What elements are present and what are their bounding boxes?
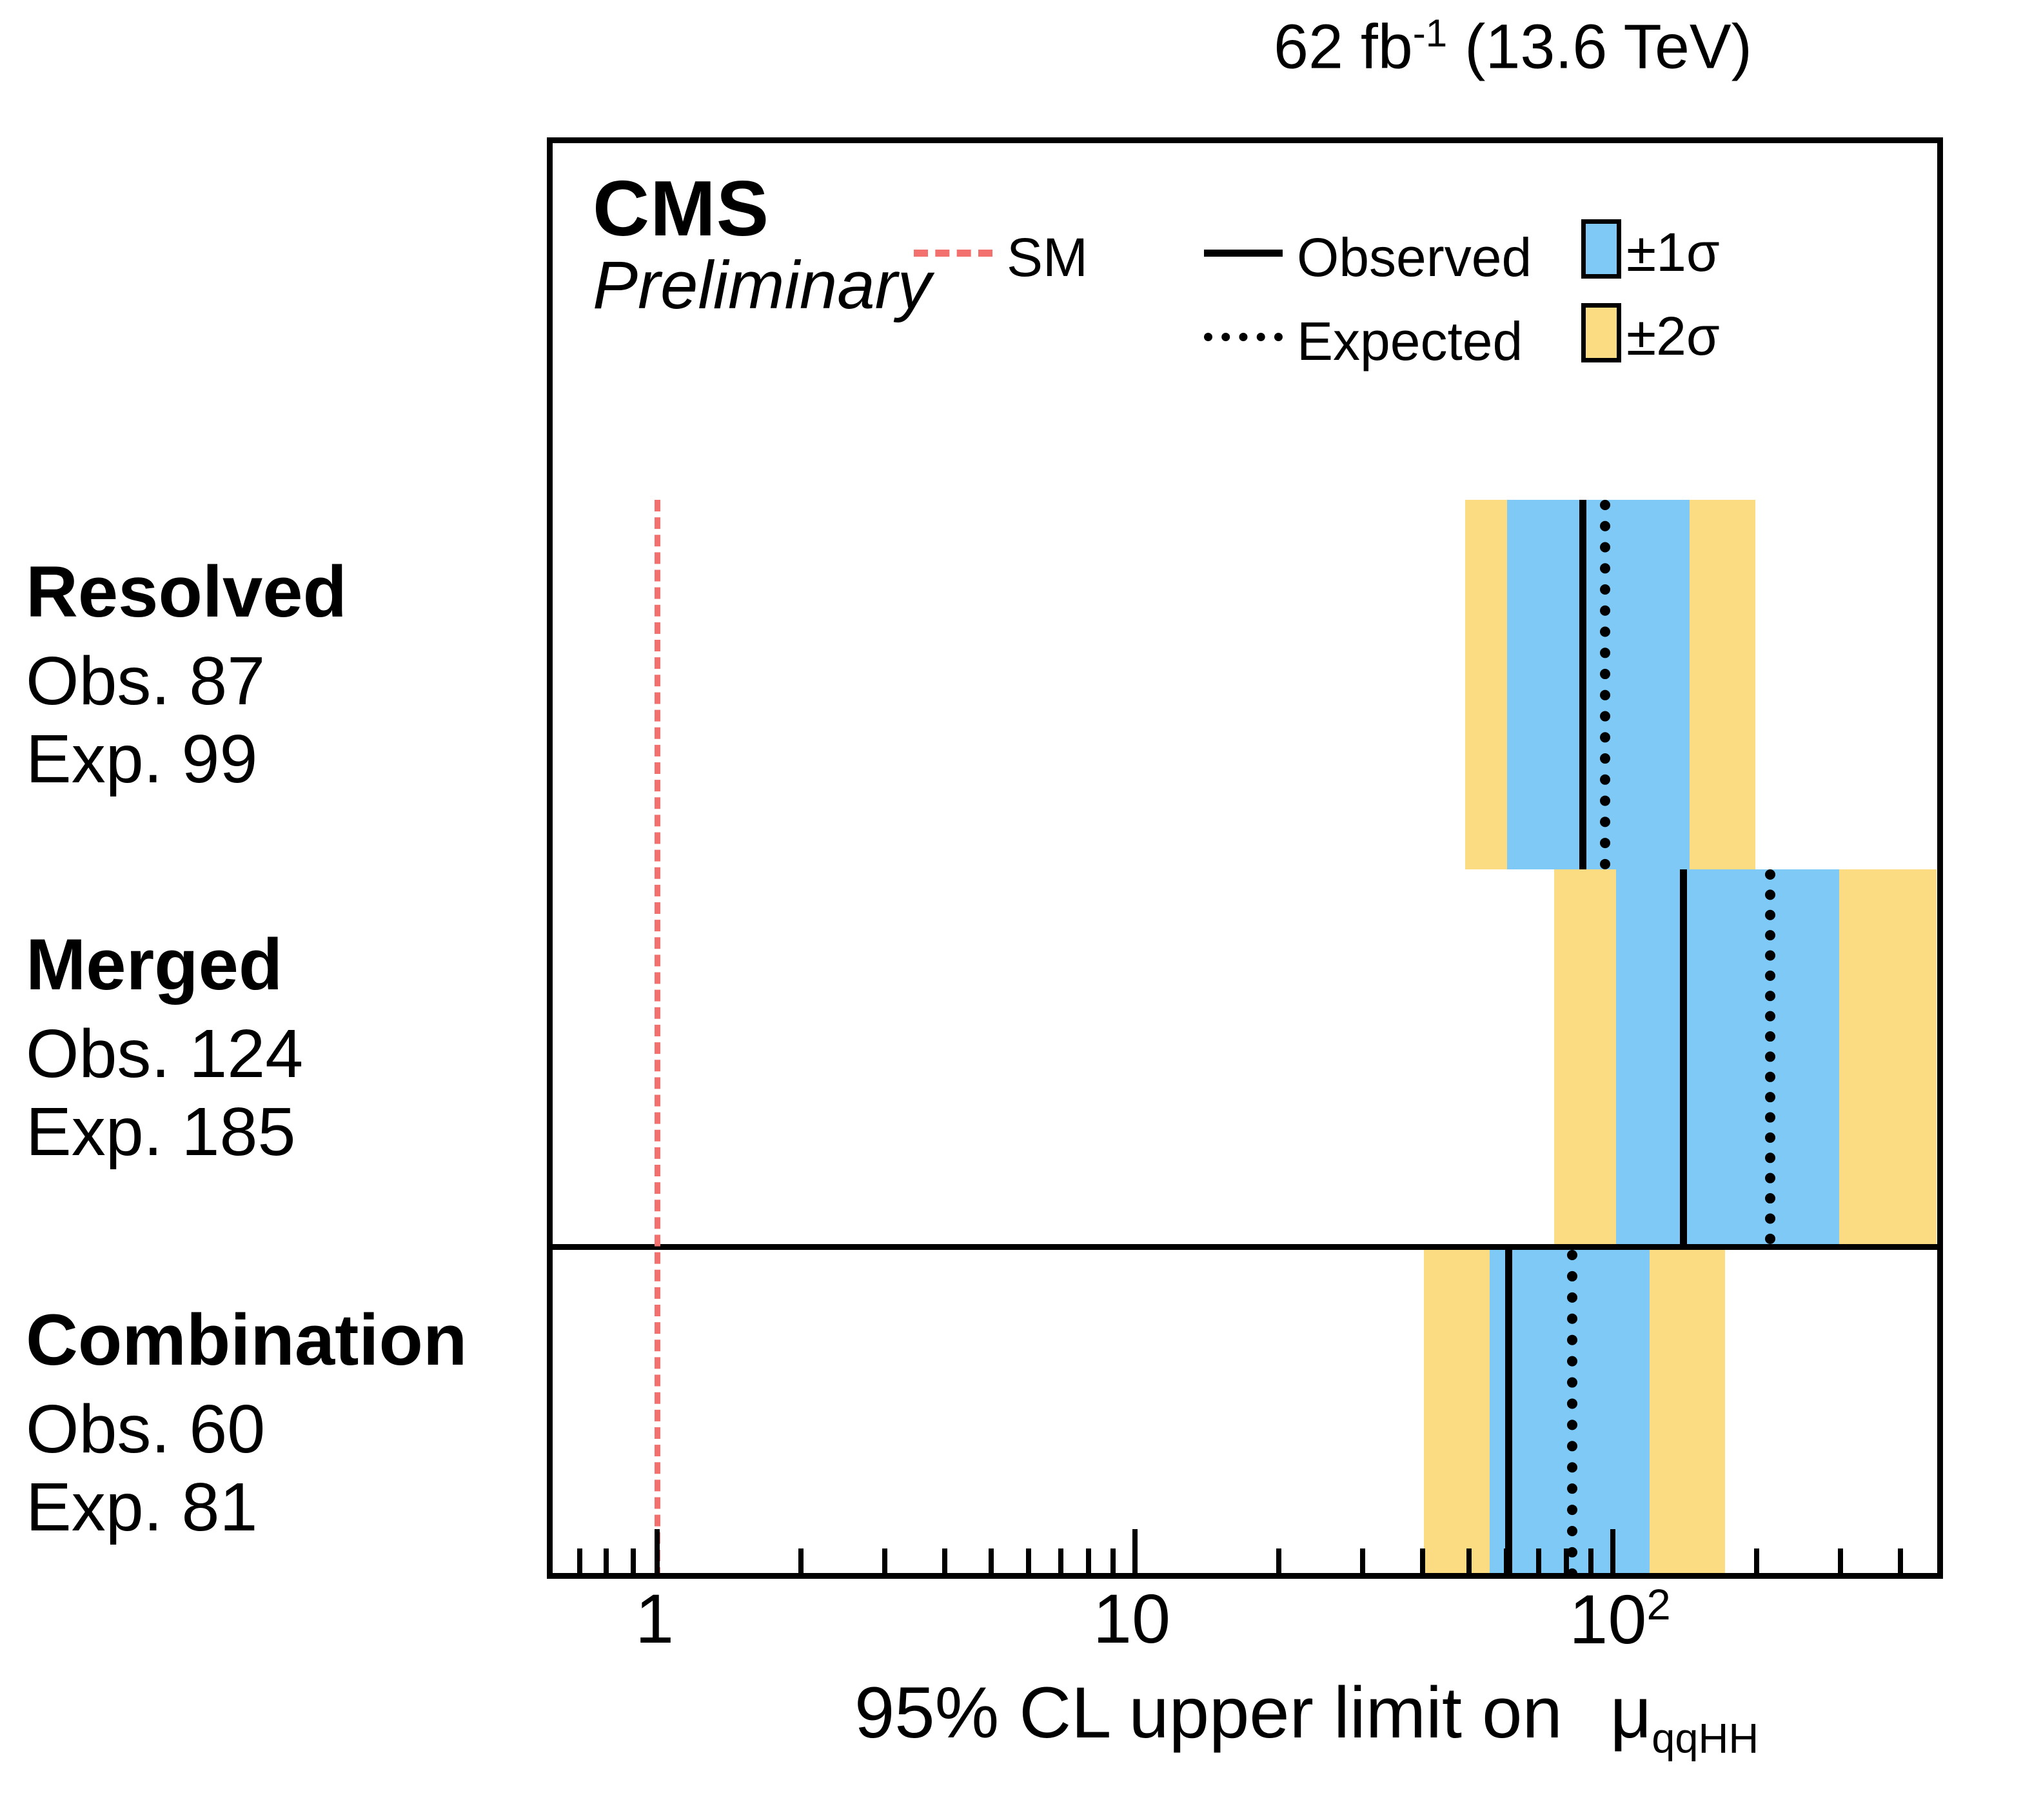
expected-line-resolved (1600, 500, 1610, 869)
xtick-minor (798, 1548, 804, 1573)
xtick-minor (989, 1548, 994, 1573)
category-observed-resolved: Obs. 87 (26, 642, 535, 720)
xtick-major-10 (1132, 1529, 1138, 1573)
legend-label-two-sigma: ±2σ (1626, 306, 1720, 366)
band-one-sigma-resolved (1507, 500, 1690, 869)
cms-logo-text: CMS (593, 169, 769, 248)
legend-label-sm: SM (1007, 227, 1088, 288)
category-block-merged: Merged Obs. 124 Exp. 185 (26, 929, 535, 1171)
legend-label-one-sigma: ±1σ (1626, 222, 1720, 282)
luminosity-exponent: -1 (1413, 12, 1447, 55)
observed-line-resolved (1579, 500, 1586, 869)
observed-line-merged (1680, 869, 1687, 1244)
legend-entry-one-sigma: ±1σ (1581, 221, 1720, 282)
category-block-resolved: Resolved Obs. 87 Exp. 99 (26, 556, 535, 798)
xtick-label-100-exponent: 2 (1646, 1581, 1670, 1629)
one-sigma-swatch-icon (1581, 219, 1621, 279)
expected-line-combination (1567, 1250, 1577, 1573)
xtick-label-10-text: 10 (1093, 1579, 1170, 1657)
xtick-label-10: 10 (1093, 1584, 1170, 1654)
category-name-merged: Merged (26, 929, 535, 1001)
plot-area: CMS Preliminary SM Observed Expected ±1σ… (553, 143, 1937, 1573)
xtick-minor (942, 1548, 947, 1573)
xtick-minor (1898, 1548, 1903, 1573)
observed-line-combination (1505, 1250, 1512, 1573)
band-one-sigma-merged (1616, 869, 1839, 1244)
xtick-minor (577, 1548, 582, 1573)
luminosity-value: 62 fb (1274, 11, 1413, 81)
category-name-resolved: Resolved (26, 556, 535, 628)
xtick-label-100-text: 10 (1569, 1580, 1646, 1658)
legend-label-expected: Expected (1297, 311, 1523, 371)
x-axis-title-main: 95% CL upper limit on (854, 1672, 1563, 1753)
xtick-minor (882, 1548, 887, 1573)
category-block-combination: Combination Obs. 60 Exp. 81 (26, 1304, 535, 1547)
legend-entry-two-sigma: ±2σ (1581, 304, 1720, 366)
xtick-minor (1536, 1548, 1541, 1573)
expected-dotted-line-icon (1204, 333, 1283, 341)
xtick-minor (1110, 1548, 1116, 1573)
observed-solid-line-icon (1204, 250, 1283, 257)
sm-reference-line (655, 500, 660, 1573)
xtick-minor (1754, 1548, 1759, 1573)
x-axis-title-mu: μqqHH (1610, 1672, 1759, 1753)
category-expected-combination: Exp. 81 (26, 1469, 535, 1547)
xtick-minor (631, 1548, 636, 1573)
xtick-major-100 (1610, 1529, 1615, 1573)
legend-entry-expected: Expected (1204, 310, 1523, 368)
cms-preliminary-text: Preliminary (593, 252, 931, 319)
xtick-label-1-text: 1 (635, 1579, 674, 1657)
xtick-major-1 (655, 1529, 660, 1573)
plot-frame: CMS Preliminary SM Observed Expected ±1σ… (547, 137, 1943, 1579)
figure-root: 62 fb-1 (13.6 TeV) Resolved Obs. 87 Exp.… (0, 0, 2032, 1820)
xtick-minor (1588, 1548, 1593, 1573)
legend-entry-sm: SM (914, 226, 1088, 284)
xtick-minor (604, 1548, 609, 1573)
legend-entry-observed: Observed (1204, 226, 1532, 284)
xtick-minor (1026, 1548, 1031, 1573)
xtick-minor (1420, 1548, 1425, 1573)
xtick-minor (1466, 1548, 1472, 1573)
category-observed-merged: Obs. 124 (26, 1015, 535, 1093)
luminosity-energy-label: 62 fb-1 (13.6 TeV) (1274, 14, 1752, 77)
x-axis-title: 95% CL upper limit onμqqHH (854, 1677, 1759, 1759)
legend-label-observed: Observed (1297, 227, 1532, 288)
category-expected-merged: Exp. 185 (26, 1093, 535, 1171)
xtick-label-100: 102 (1569, 1584, 1670, 1654)
xtick-minor (1086, 1548, 1091, 1573)
collision-energy: (13.6 TeV) (1447, 11, 1752, 81)
category-observed-combination: Obs. 60 (26, 1390, 535, 1469)
category-expected-resolved: Exp. 99 (26, 720, 535, 798)
xtick-minor (1838, 1548, 1843, 1573)
xtick-minor (1504, 1548, 1509, 1573)
category-name-combination: Combination (26, 1304, 535, 1376)
xtick-label-1: 1 (635, 1584, 674, 1654)
xtick-minor (1058, 1548, 1063, 1573)
xtick-minor (1360, 1548, 1365, 1573)
x-axis-title-mu-subscript: qqHH (1652, 1714, 1759, 1761)
xtick-minor (1564, 1548, 1569, 1573)
two-sigma-swatch-icon (1581, 303, 1621, 362)
expected-line-merged (1765, 869, 1775, 1244)
x-axis-title-mu-symbol: μ (1610, 1672, 1652, 1753)
xtick-minor (1276, 1548, 1281, 1573)
row-separator-line (553, 1244, 1937, 1250)
sm-dashed-line-icon (914, 250, 992, 257)
